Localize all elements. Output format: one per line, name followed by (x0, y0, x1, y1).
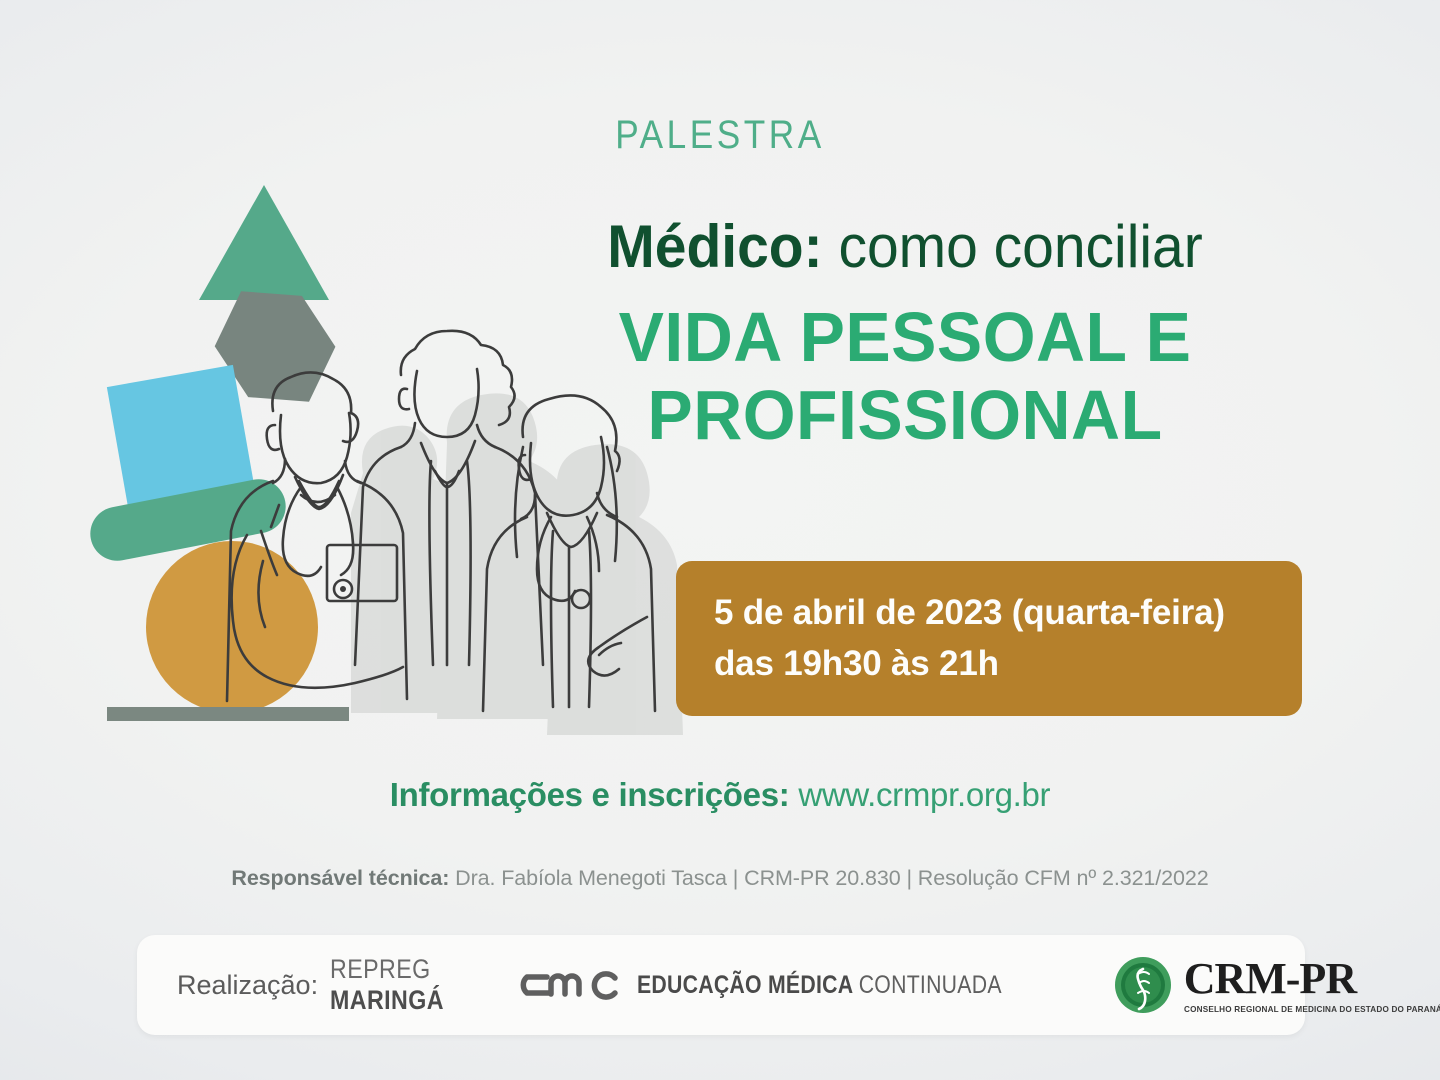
crm-pr-subtitle: CONSELHO REGIONAL DE MEDICINA DO ESTADO … (1184, 1004, 1440, 1014)
info-registration-line: Informações e inscrições: www.crmpr.org.… (0, 776, 1440, 814)
emc-logo-block: EDUCAÇÃO MÉDICA CONTINUADA (515, 963, 1066, 1007)
emc-text-bold: EDUCAÇÃO MÉDICA (637, 971, 859, 999)
kicker-palestra: PALESTRA (86, 113, 1353, 158)
repreg-light: REPREG (330, 954, 431, 984)
crm-pr-seal-icon (1114, 956, 1172, 1014)
emc-text-light: CONTINUADA (858, 971, 1001, 999)
triangle-shape (199, 185, 329, 300)
headline-line-3: PROFISSIONAL (483, 376, 1327, 454)
responsible-technician-line: Responsável técnica: Dra. Fabíola Menego… (0, 866, 1440, 891)
headline-line-1: Médico: como conciliar (492, 215, 1319, 278)
headline-line-1-bold: Médico: (607, 213, 822, 280)
crm-pr-logo-block: CRM-PR CONSELHO REGIONAL DE MEDICINA DO … (1114, 956, 1440, 1014)
headline-line-1-rest: como conciliar (823, 213, 1203, 280)
headline-big: VIDA PESSOAL E PROFISSIONAL (483, 298, 1327, 455)
emc-logo-text: EDUCAÇÃO MÉDICA CONTINUADA (637, 971, 1002, 1000)
info-label: Informações e inscrições: (390, 776, 790, 813)
event-date: 5 de abril de 2023 (quarta-feira) (714, 593, 1302, 633)
responsible-label: Responsável técnica: (231, 866, 449, 890)
emc-logo-icon (515, 963, 621, 1007)
event-date-box: 5 de abril de 2023 (quarta-feira) das 19… (676, 561, 1302, 716)
realizacao-label: Realização: (177, 970, 318, 1001)
repreg-bold: MARINGÁ (330, 985, 444, 1015)
headline-line-2: VIDA PESSOAL E (483, 298, 1327, 376)
circle-shape (146, 541, 318, 713)
responsible-text: Dra. Fabíola Menegoti Tasca | CRM-PR 20.… (449, 866, 1208, 890)
crm-pr-title: CRM-PR (1184, 954, 1356, 1003)
crm-pr-text-block: CRM-PR CONSELHO REGIONAL DE MEDICINA DO … (1184, 957, 1440, 1014)
footer-logo-bar: Realização: REPREG MARINGÁ EDUCAÇÃO MÉDI… (137, 935, 1305, 1035)
repreg-maringa-logo: REPREG MARINGÁ (330, 954, 444, 1016)
info-url[interactable]: www.crmpr.org.br (798, 776, 1050, 813)
base-bar-shape (107, 707, 349, 721)
headline-block: Médico: como conciliar VIDA PESSOAL E PR… (470, 215, 1340, 455)
event-time: das 19h30 às 21h (714, 644, 1302, 684)
